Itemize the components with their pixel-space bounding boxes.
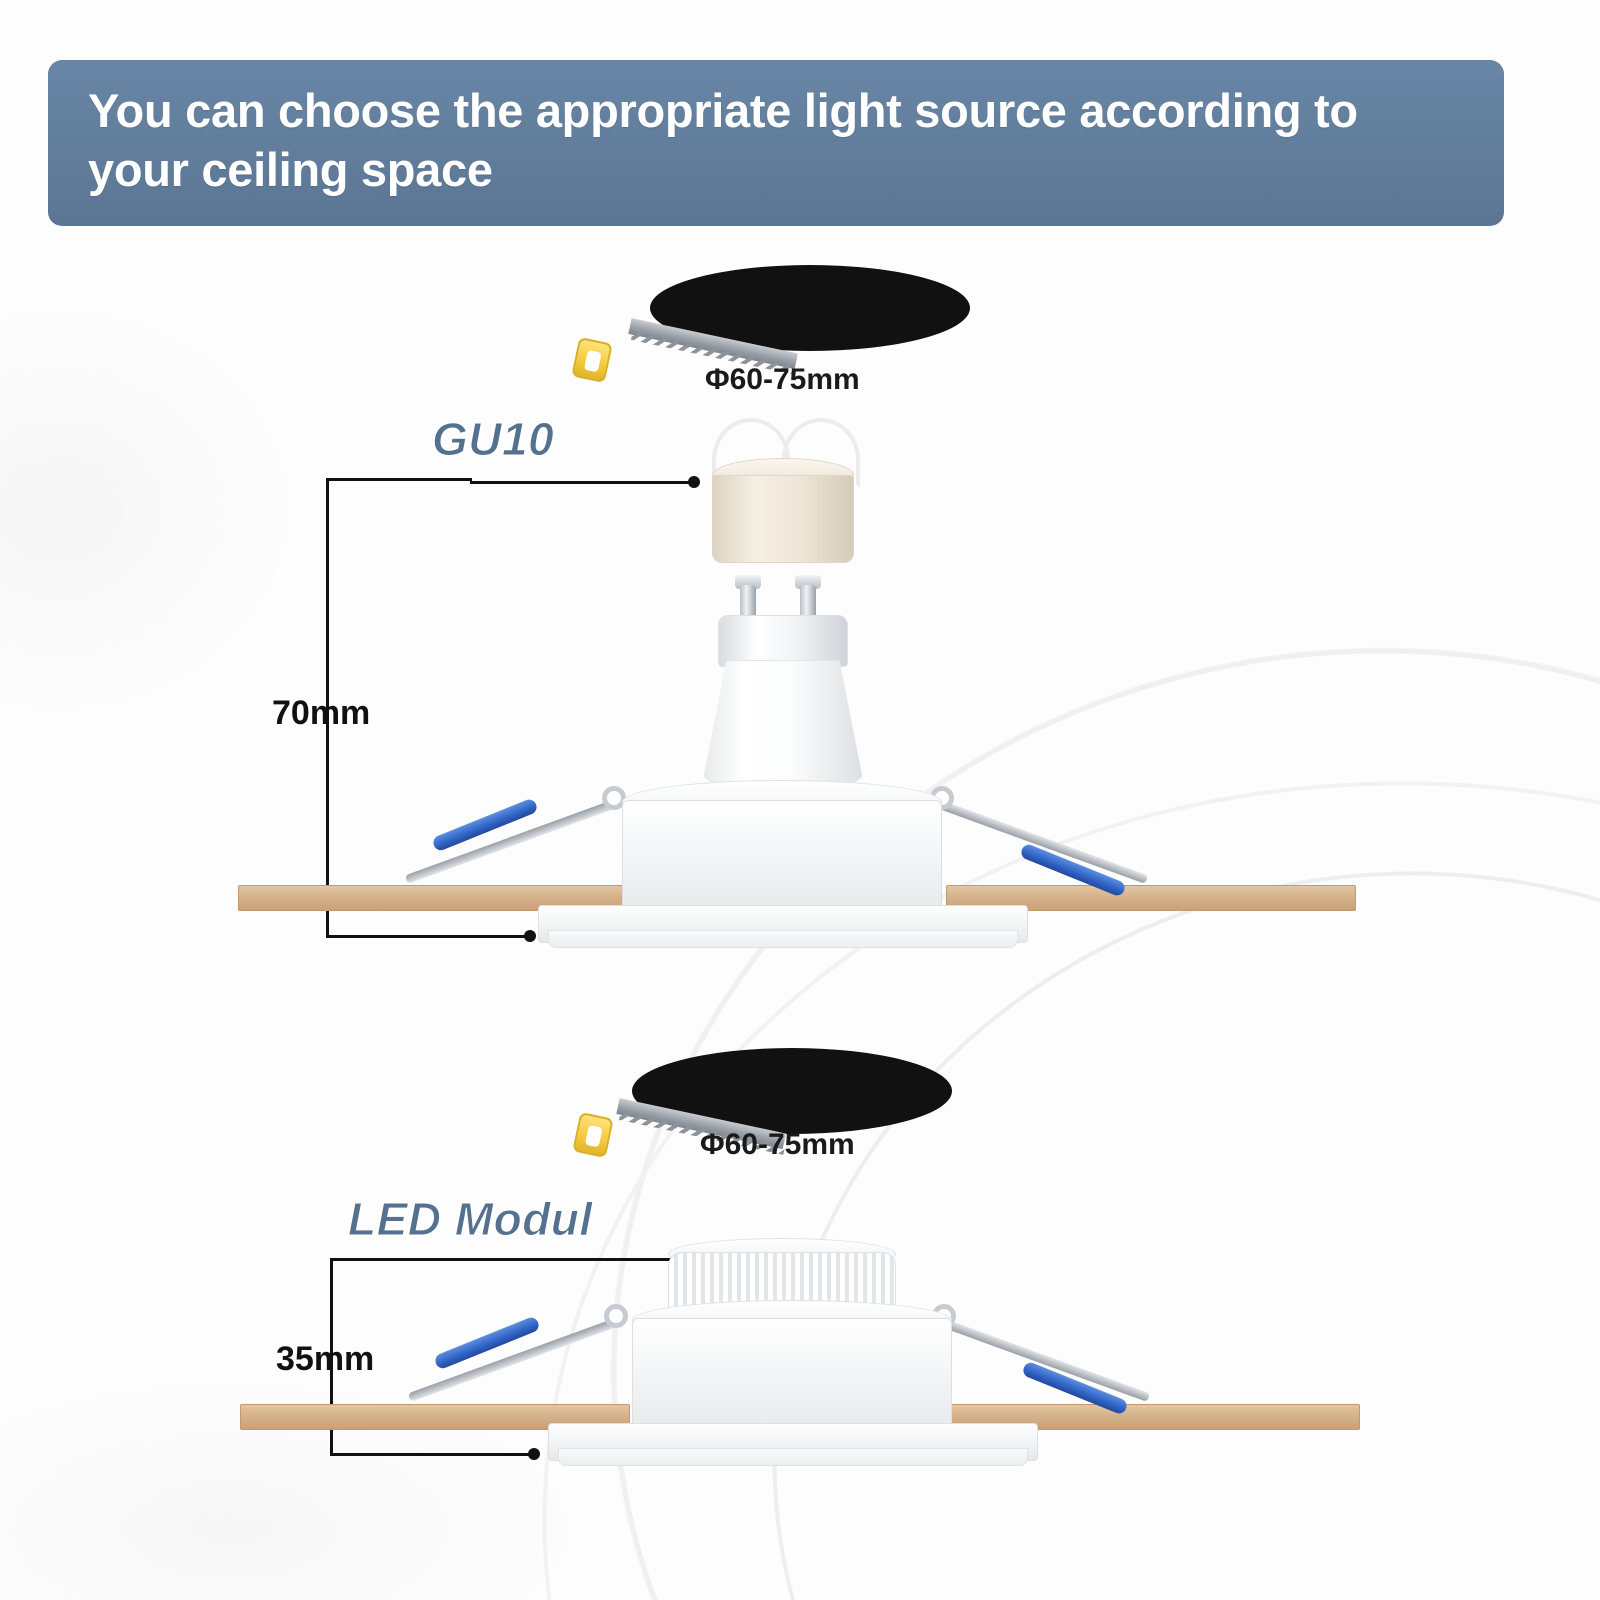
depth-label-gu10: 70mm <box>272 694 370 733</box>
fixture-trim-lens-led <box>558 1448 1028 1466</box>
fixture-housing-gu10 <box>622 800 942 910</box>
fixture-housing-led <box>632 1318 952 1428</box>
background-glow-top-left <box>0 300 300 720</box>
led-title-leader-line <box>330 1258 690 1261</box>
gu10-title-leader-dot <box>688 476 700 488</box>
dim-70mm-top-tick <box>326 478 472 481</box>
dim-70mm-bottom-tick <box>326 935 526 938</box>
product-title-led: LED Modul <box>348 1192 593 1246</box>
gu10-title-leader-line <box>470 481 695 484</box>
product-title-gu10: GU10 <box>432 412 554 466</box>
depth-label-led: 35mm <box>276 1340 374 1379</box>
dim-70mm-bottom-dot <box>524 930 536 942</box>
hole-diameter-label-led: Φ60-75mm <box>700 1128 855 1162</box>
fixture-trim-lens-gu10 <box>548 930 1018 948</box>
dim-35mm-bottom-dot <box>528 1448 540 1460</box>
spring-pivot-left-led <box>604 1304 628 1328</box>
gu10-lamp-reflector <box>700 660 866 795</box>
gu10-lamp-base <box>718 615 848 667</box>
gu10-socket <box>712 475 854 563</box>
headline-banner: You can choose the appropriate light sou… <box>48 60 1504 226</box>
dim-35mm-bottom-tick <box>330 1453 530 1456</box>
hole-diameter-label-gu10: Φ60-75mm <box>705 363 860 397</box>
